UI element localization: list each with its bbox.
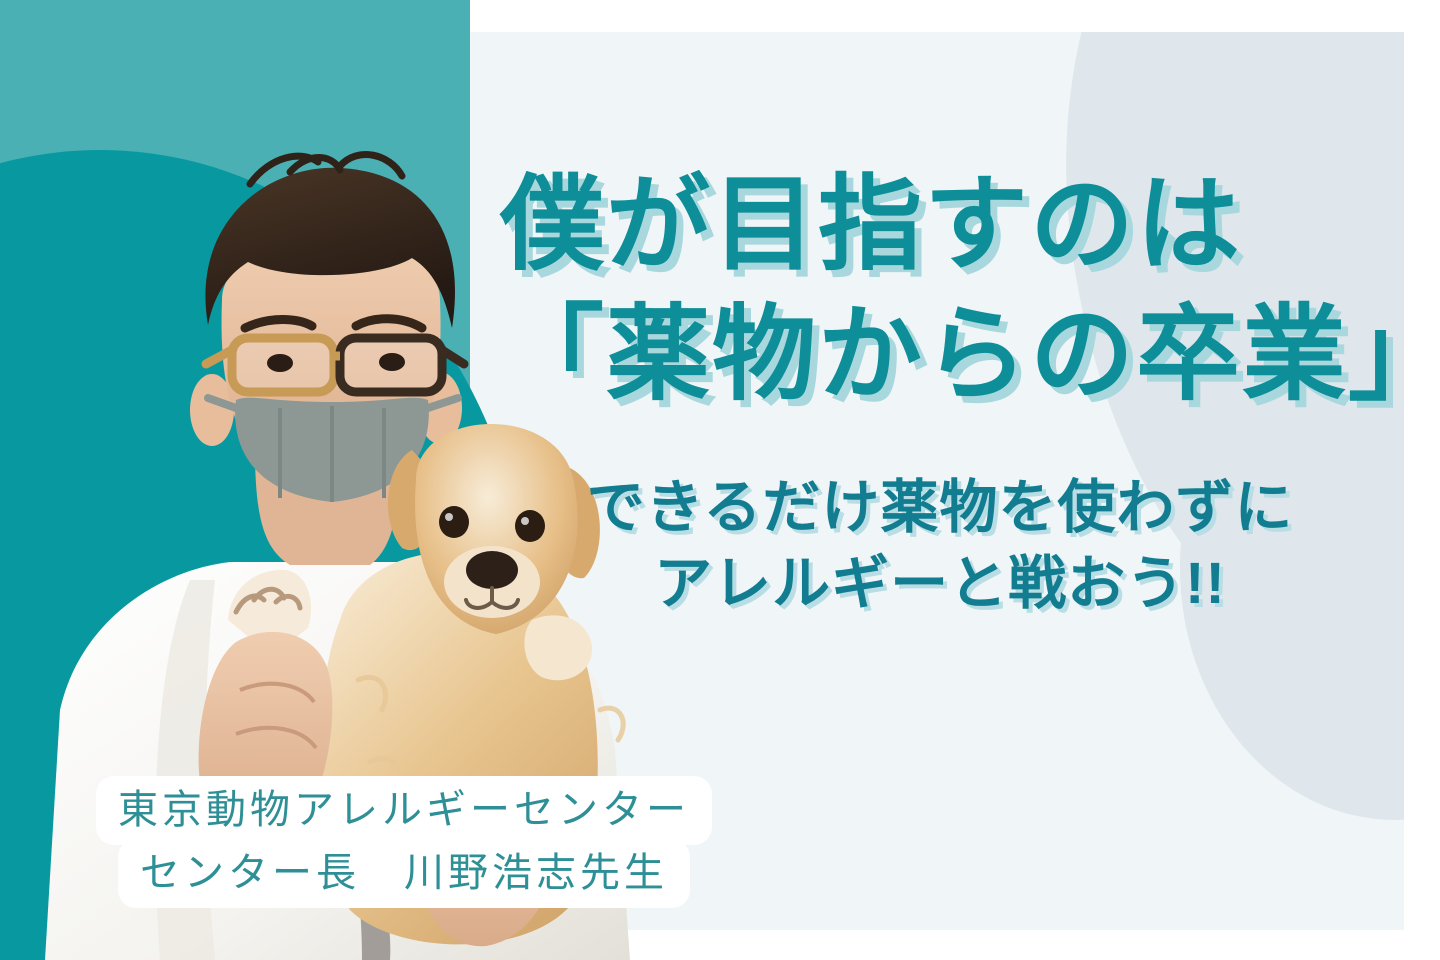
subtitle-line-2: アレルギーと戦おう!! (500, 546, 1380, 622)
nameplate-organization: 東京動物アレルギーセンター (96, 776, 712, 845)
headline-line-1: 僕が目指すのは (500, 160, 1380, 290)
headline-line-2: 「薬物からの卒業」 (500, 290, 1380, 420)
nameplate: 東京動物アレルギーセンター センター長 川野浩志先生 (96, 776, 712, 908)
white-border-right (1404, 0, 1440, 960)
eye-right (379, 353, 405, 371)
dog-paw-right (524, 615, 592, 680)
dog-eye-left (439, 506, 469, 538)
subtitle: できるだけ薬物を使わずに アレルギーと戦おう!! (500, 470, 1380, 622)
white-border-top (470, 0, 1440, 32)
promo-banner: 僕が目指すのは 「薬物からの卒業」 できるだけ薬物を使わずに アレルギーと戦おう… (0, 0, 1440, 960)
eyeglasses (206, 338, 464, 392)
subtitle-line-1: できるだけ薬物を使わずに (500, 470, 1380, 546)
headline: 僕が目指すのは 「薬物からの卒業」 (500, 160, 1380, 420)
dog-eye-highlight-left (445, 513, 453, 521)
eye-left (267, 354, 293, 372)
nameplate-title-name: センター長 川野浩志先生 (118, 839, 690, 908)
